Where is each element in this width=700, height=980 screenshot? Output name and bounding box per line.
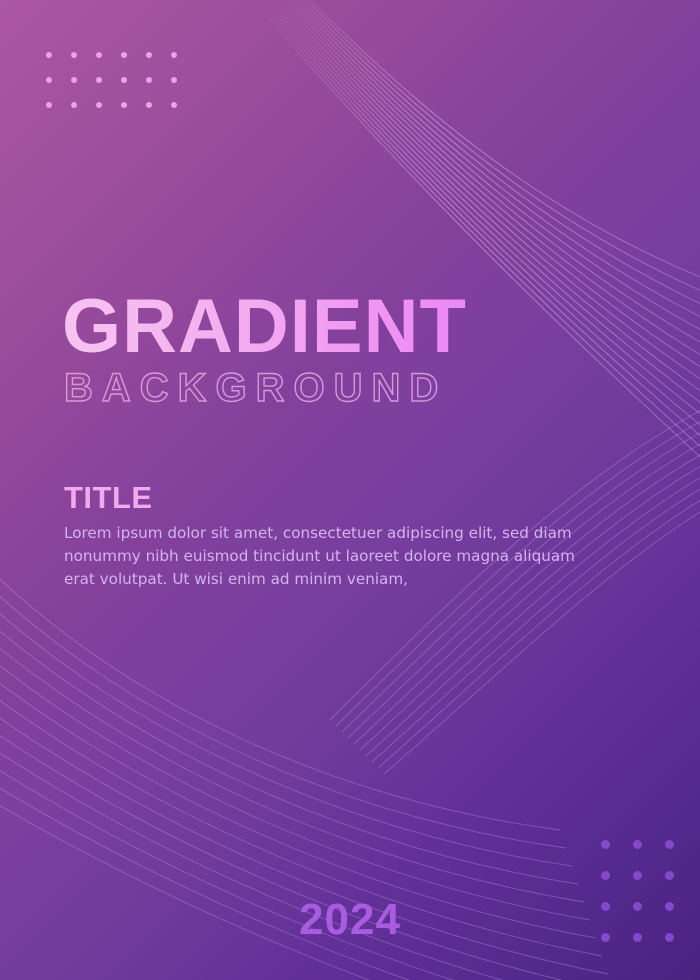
body-title: TITLE [64,482,604,513]
dot [96,52,102,58]
dot [171,102,177,108]
dot [121,52,127,58]
dot [71,102,77,108]
poster-canvas: GRADIENT BACKGROUND TITLE Lorem ipsum do… [0,0,700,980]
dot [171,52,177,58]
dot [665,871,674,880]
headline-block: GRADIENT BACKGROUND [62,292,642,408]
dot [146,52,152,58]
year-label: 2024 [0,898,700,942]
dot [121,77,127,83]
dot [96,102,102,108]
dot [46,77,52,83]
dot [146,77,152,83]
dot [633,840,642,849]
dot [171,77,177,83]
dot [71,77,77,83]
dot [601,871,610,880]
dot [146,102,152,108]
dot [46,102,52,108]
dot-grid-top-left [46,52,196,127]
dot [121,102,127,108]
dot [601,840,610,849]
dot [96,77,102,83]
dot [71,52,77,58]
body-paragraph: Lorem ipsum dolor sit amet, consectetuer… [64,522,604,591]
body-block: TITLE Lorem ipsum dolor sit amet, consec… [64,482,604,591]
headline-sub-outline: BACKGROUND [64,368,642,408]
dot [665,840,674,849]
dot [633,871,642,880]
headline-main: GRADIENT [62,292,642,362]
dot [46,52,52,58]
